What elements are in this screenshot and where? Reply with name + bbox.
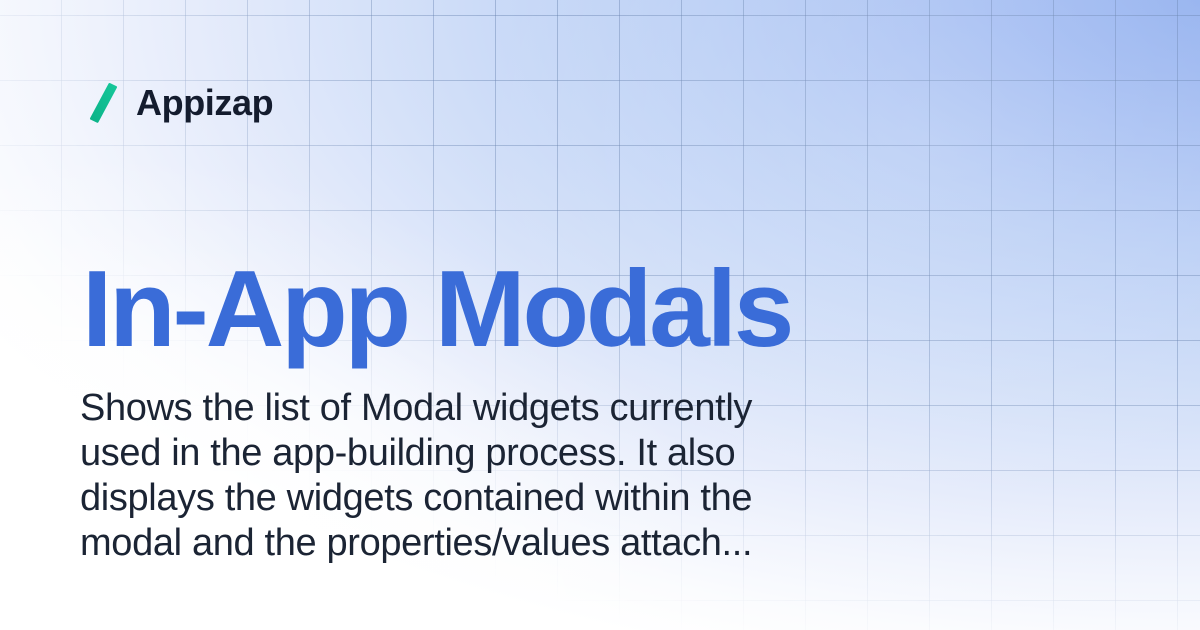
card-content: Appizap In-App Modals Shows the list of … (0, 0, 1200, 630)
brand-name: Appizap (136, 85, 273, 121)
og-preview-card: Appizap In-App Modals Shows the list of … (0, 0, 1200, 630)
page-title: In-App Modals (82, 255, 791, 364)
slash-icon (88, 82, 118, 124)
page-description: Shows the list of Modal widgets currentl… (80, 386, 810, 566)
brand-lockup: Appizap (88, 82, 273, 124)
